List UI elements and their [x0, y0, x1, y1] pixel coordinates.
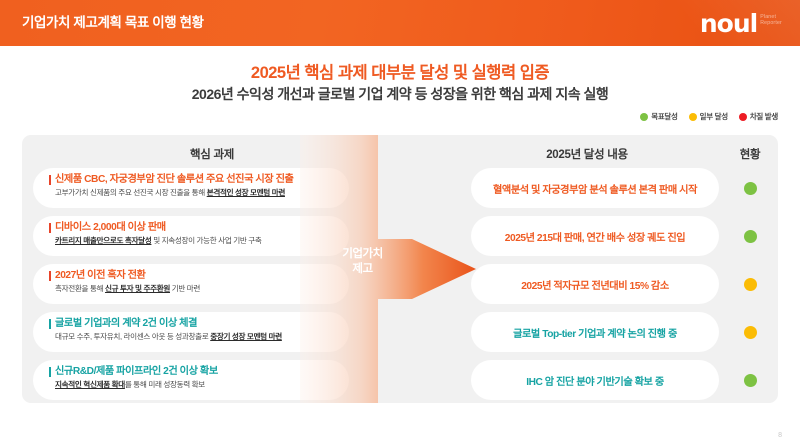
task-subtitle-emphasis: 중장기 성장 모멘텀 마련: [210, 332, 282, 341]
table-row: 2027년 이전 흑자 전환흑자전환을 통해 신규 투자 및 주주환원 기반 마…: [22, 264, 778, 304]
status-badge: [744, 374, 757, 387]
task-subtitle: 지속적인 혁신제품 확대를 통해 미래 성장동력 확보: [49, 379, 339, 391]
status-cell: [722, 360, 778, 400]
result-card[interactable]: 혈액분석 및 자궁경부암 분석 솔루션 본격 판매 시작: [471, 168, 719, 208]
result-card[interactable]: 2025년 215대 판매, 연간 배수 성장 궤도 진입: [471, 216, 719, 256]
task-subtitle: 대규모 수주, 투자유치, 라이센스 아웃 등 성과창출로 중장기 성장 모멘텀…: [49, 331, 339, 343]
legend-item: 목표달성: [640, 111, 677, 122]
status-cell: [722, 264, 778, 304]
page-title: 2025년 핵심 과제 대부분 달성 및 실행력 입증: [0, 59, 800, 83]
header-title: 기업가치 제고계획 목표 이행 현황: [22, 0, 204, 46]
logo-tagline-line1: Planet: [760, 14, 776, 20]
task-subtitle-emphasis: 신규 투자 및 주주환원: [105, 284, 170, 293]
task-title-text: 2027년 이전 흑자 전환: [55, 269, 145, 282]
column-header-result: 2025년 달성 내용: [502, 146, 672, 162]
logo-wordmark: noul: [700, 11, 757, 36]
logo-tagline-line2: Reporter: [760, 20, 782, 26]
table-row: 신규R&D/제품 파이프라인 2건 이상 확보지속적인 혁신제품 확대를 통해 …: [22, 360, 778, 400]
task-title: 신제품 CBC, 자궁경부암 진단 솔루션 주요 선진국 시장 진출: [49, 173, 339, 186]
page-number: 8: [778, 432, 782, 439]
task-title-text: 신규R&D/제품 파이프라인 2건 이상 확보: [55, 365, 218, 378]
legend-dot-icon: [689, 113, 697, 121]
task-title-text: 신제품 CBC, 자궁경부암 진단 솔루션 주요 선진국 시장 진출: [55, 173, 293, 186]
task-accent-bar-icon: [49, 367, 51, 377]
task-card[interactable]: 신규R&D/제품 파이프라인 2건 이상 확보지속적인 혁신제품 확대를 통해 …: [33, 360, 349, 400]
task-subtitle-emphasis: 카트리지 매출만으로도 흑자달성: [55, 236, 151, 245]
task-subtitle: 흑자전환을 통해 신규 투자 및 주주환원 기반 마련: [49, 283, 339, 295]
slide-header: 기업가치 제고계획 목표 이행 현황 noul Planet Reporter: [0, 0, 800, 46]
task-accent-bar-icon: [49, 319, 51, 329]
task-title: 글로벌 기업과의 계약 2건 이상 체결: [49, 317, 339, 330]
task-subtitle-prefix: 대규모 수주, 투자유치, 라이센스 아웃 등 성과창출로: [55, 332, 210, 341]
task-subtitle-emphasis: 본격적인 성장 모멘텀 마련: [207, 188, 285, 197]
legend-item: 차질 발생: [739, 111, 778, 122]
legend-dot-icon: [640, 113, 648, 121]
status-cell: [722, 216, 778, 256]
column-header-tasks: 핵심 과제: [152, 146, 272, 162]
status-badge: [744, 182, 757, 195]
task-accent-bar-icon: [49, 223, 51, 233]
comparison-panel: 핵심 과제 2025년 달성 내용 현황 신제품 CBC, 자궁경부암 진단 솔…: [22, 135, 778, 403]
task-card[interactable]: 글로벌 기업과의 계약 2건 이상 체결대규모 수주, 투자유치, 라이센스 아…: [33, 312, 349, 352]
task-card[interactable]: 신제품 CBC, 자궁경부암 진단 솔루션 주요 선진국 시장 진출고부가가치 …: [33, 168, 349, 208]
task-subtitle-prefix: 고부가가치 신제품의 주요 선진국 시장 진출을 통해: [55, 188, 207, 197]
legend-dot-icon: [739, 113, 747, 121]
result-card[interactable]: 2025년 적자규모 전년대비 15% 감소: [471, 264, 719, 304]
task-card[interactable]: 2027년 이전 흑자 전환흑자전환을 통해 신규 투자 및 주주환원 기반 마…: [33, 264, 349, 304]
task-title-text: 디바이스 2,000대 이상 판매: [55, 221, 166, 234]
result-text: 2025년 215대 판매, 연간 배수 성장 궤도 진입: [505, 229, 685, 244]
page-subtitle: 2026년 수익성 개선과 글로벌 기업 계약 등 성장을 위한 핵심 과제 지…: [0, 84, 800, 104]
task-title: 신규R&D/제품 파이프라인 2건 이상 확보: [49, 365, 339, 378]
status-cell: [722, 312, 778, 352]
task-accent-bar-icon: [49, 271, 51, 281]
task-accent-bar-icon: [49, 175, 51, 185]
legend-label: 목표달성: [651, 111, 677, 122]
legend-label: 차질 발생: [750, 111, 778, 122]
column-header-status: 현황: [722, 146, 778, 162]
task-subtitle-suffix: 를 통해 미래 성장동력 확보: [125, 380, 205, 389]
task-subtitle-suffix: 기반 마련: [170, 284, 200, 293]
status-legend: 목표달성일부 달성차질 발생: [640, 111, 778, 122]
task-title: 디바이스 2,000대 이상 판매: [49, 221, 339, 234]
result-text: 혈액분석 및 자궁경부암 분석 솔루션 본격 판매 시작: [493, 181, 697, 196]
task-card[interactable]: 디바이스 2,000대 이상 판매카트리지 매출만으로도 흑자달성 및 지속성장…: [33, 216, 349, 256]
task-title-text: 글로벌 기업과의 계약 2건 이상 체결: [55, 317, 197, 330]
task-rows: 신제품 CBC, 자궁경부암 진단 솔루션 주요 선진국 시장 진출고부가가치 …: [22, 168, 778, 408]
result-card[interactable]: IHC 암 진단 분야 기반기술 확보 중: [471, 360, 719, 400]
status-cell: [722, 168, 778, 208]
task-subtitle: 카트리지 매출만으로도 흑자달성 및 지속성장이 가능한 사업 기반 구축: [49, 235, 339, 247]
table-row: 글로벌 기업과의 계약 2건 이상 체결대규모 수주, 투자유치, 라이센스 아…: [22, 312, 778, 352]
status-badge: [744, 230, 757, 243]
noul-logo: noul Planet Reporter: [700, 11, 782, 36]
task-subtitle-suffix: 및 지속성장이 가능한 사업 기반 구축: [151, 236, 261, 245]
logo-tagline: Planet Reporter: [760, 14, 782, 27]
task-subtitle-prefix: 흑자전환을 통해: [55, 284, 105, 293]
result-text: 2025년 적자규모 전년대비 15% 감소: [521, 277, 669, 292]
result-text: IHC 암 진단 분야 기반기술 확보 중: [526, 373, 664, 388]
result-card[interactable]: 글로벌 Top-tier 기업과 계약 논의 진행 중: [471, 312, 719, 352]
table-row: 디바이스 2,000대 이상 판매카트리지 매출만으로도 흑자달성 및 지속성장…: [22, 216, 778, 256]
task-title: 2027년 이전 흑자 전환: [49, 269, 339, 282]
task-subtitle: 고부가가치 신제품의 주요 선진국 시장 진출을 통해 본격적인 성장 모멘텀 …: [49, 187, 339, 199]
status-badge: [744, 326, 757, 339]
legend-label: 일부 달성: [700, 111, 728, 122]
table-row: 신제품 CBC, 자궁경부암 진단 솔루션 주요 선진국 시장 진출고부가가치 …: [22, 168, 778, 208]
result-text: 글로벌 Top-tier 기업과 계약 논의 진행 중: [513, 325, 677, 340]
status-badge: [744, 278, 757, 291]
legend-item: 일부 달성: [689, 111, 728, 122]
task-subtitle-emphasis: 지속적인 혁신제품 확대: [55, 380, 125, 389]
